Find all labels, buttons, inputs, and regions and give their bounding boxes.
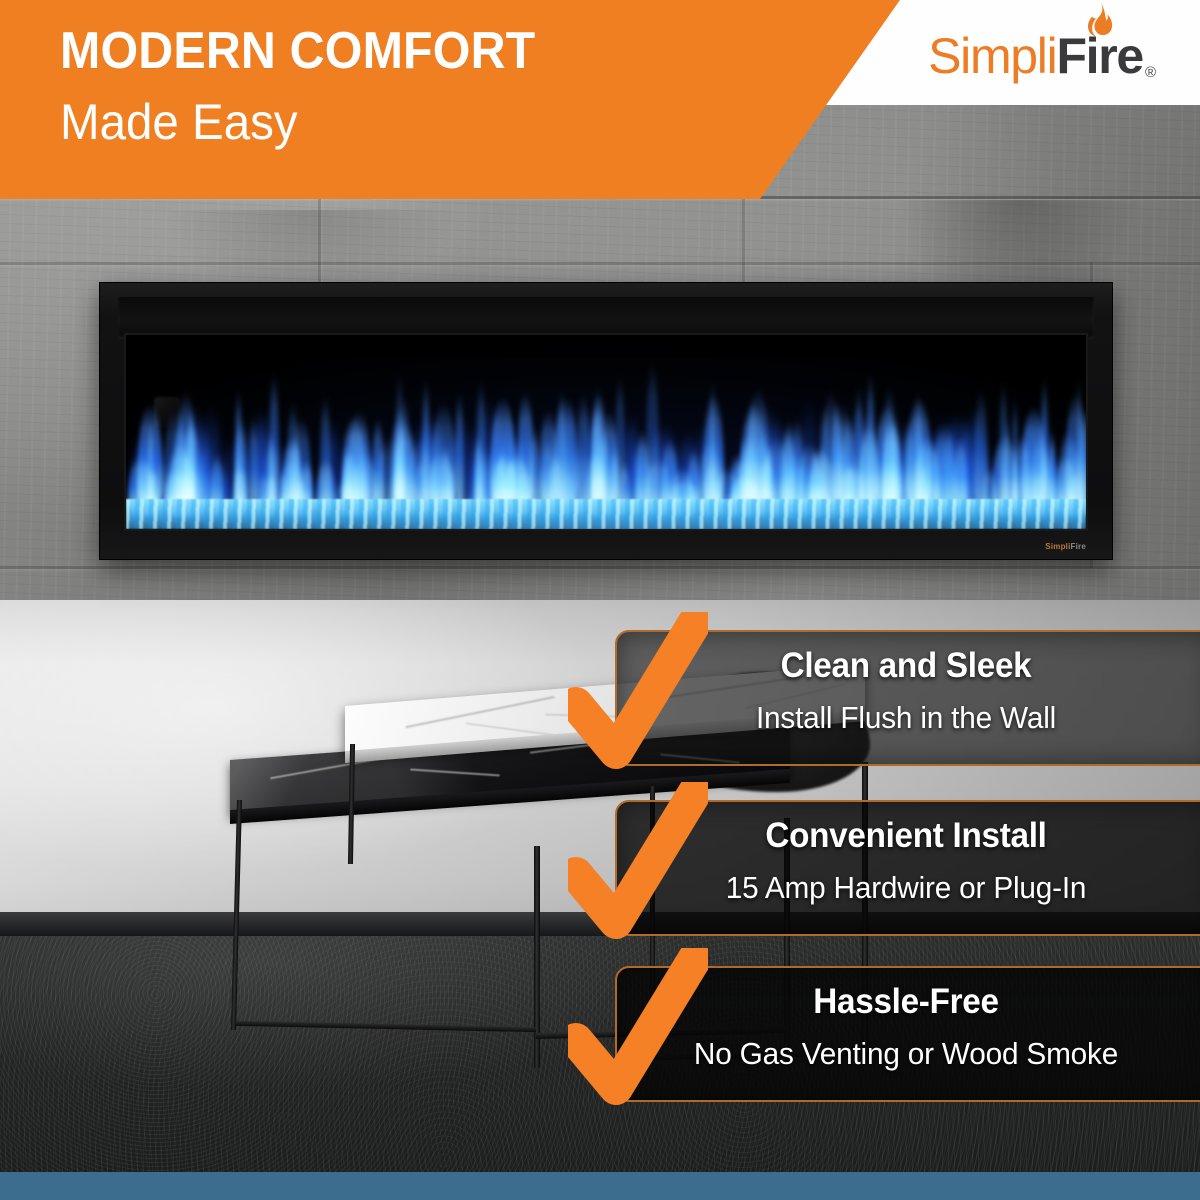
callout-subheading: No Gas Venting or Wood Smoke: [629, 1038, 1184, 1069]
callout-heading: Convenient Install: [631, 818, 1180, 853]
callout-hassle-free[interactable]: Hassle-Free No Gas Venting or Wood Smoke: [615, 966, 1200, 1102]
callout-clean-and-sleek[interactable]: Clean and Sleek Install Flush in the Wal…: [615, 630, 1200, 766]
callout-heading: Hassle-Free: [631, 984, 1180, 1019]
callout-subheading: 15 Amp Hardwire or Plug-In: [629, 872, 1184, 903]
callout-convenient-install[interactable]: Convenient Install 15 Amp Hardwire or Pl…: [615, 800, 1200, 936]
bottom-color-strip: [0, 1172, 1200, 1200]
infographic-canvas: SimpliFire MODERN COMFORT Made Easy Simp…: [0, 0, 1200, 1200]
feature-callout-list: Clean and Sleek Install Flush in the Wal…: [0, 0, 1200, 1200]
callout-heading: Clean and Sleek: [631, 648, 1180, 683]
callout-subheading: Install Flush in the Wall: [629, 702, 1184, 733]
